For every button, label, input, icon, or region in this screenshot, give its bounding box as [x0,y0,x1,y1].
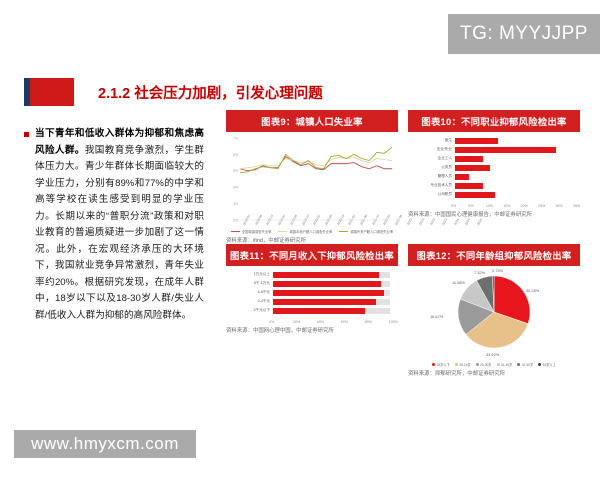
pie-chart-12: 30.28%33.92%16.67%11.08%7.32%0.73% [408,266,580,362]
x-tick-label: 15% [503,204,520,208]
page-title: 2.1.2 社会压力加剧，引发心理问题 [98,82,323,103]
x-tick-label: 0% [451,204,468,208]
chart-9-body: 7%6%5%4%3%2% 2018-022018-062018-102019-0… [226,132,398,244]
chart-10-body: 医生 无业/失业 企业工人 公务员 管理人员 专业技术人员 [408,132,580,218]
bar-row: 4-8千元 [230,290,390,296]
bar-row: 公务员 [412,165,572,171]
section-heading: 2.1.2 社会压力加剧，引发心理问题 [24,78,323,106]
bar-category-label: 2-4千元 [230,300,273,304]
bar-row: 1万元以上 [230,272,390,278]
slide-canvas: TG: MYYJJPP www.hmyxcm.com 2.1.2 社会压力加剧，… [0,0,600,480]
legend-label: 全国城镇调查失业率 [242,229,272,234]
x-tick-label: 20% [293,320,317,324]
chart-panel-12: 图表12：不同年龄组抑郁风险检出率 30.28%33.92%16.67%11.0… [408,244,580,377]
x-tick-label: 80% [365,320,389,324]
chart-9-x-axis: 2018-022018-062018-102019-022019-062019-… [226,224,398,228]
x-tick-label: 60% [341,320,365,324]
chart-12-body: 30.28%33.92%16.67%11.08%7.32%0.73% 18岁以下… [408,266,580,377]
bar-fill [273,272,379,278]
bar-track [273,281,390,287]
legend-item: 城镇外来户籍人口调查失业率 [339,229,393,234]
bullet-icon [24,132,29,137]
bar-fill [273,290,384,296]
svg-text:3%: 3% [233,202,238,206]
chart-10-title: 图表10：不同职业抑郁风险检出率 [408,110,580,132]
pie-value-label: 16.67% [430,314,443,319]
x-tick-label: 20% [521,204,538,208]
x-tick-label: 100% [389,320,398,324]
bar-row: 2-4千元 [230,299,390,305]
bar-fill [273,299,376,305]
bar-row: 公司职员 [412,192,572,198]
bar-fill [455,174,469,180]
body-paragraph: 当下青年和低收入群体为抑郁和焦虑高风险人群。我国教育竞争激烈，学生群体压力大。青… [35,126,204,324]
bar-fill [455,138,498,144]
bar-category-label: 公司职员 [412,193,455,197]
chart-panel-11: 图表11：不同月收入下抑郁风险检出率 1万元以上 8千-1万元 4-8千元 2-… [226,244,398,334]
line-chart-9-svg: 7%6%5%4%3%2% [226,132,398,224]
line-chart-9: 7%6%5%4%3%2% [226,132,398,224]
chart-11-x-axis: 0%20%40%60%80%100% [269,320,398,324]
bar-row: 无业/失业 [412,147,572,153]
bar-chart-10: 医生 无业/失业 企业工人 公务员 管理人员 专业技术人员 [408,132,580,203]
bar-fill [455,147,556,153]
bar-track [273,308,390,314]
legend-item: 全国城镇调查失业率 [231,229,272,234]
chart-9-title: 图表9：城镇人口失业率 [226,110,398,132]
chart-10-x-axis: 0%5%10%15%20%25%30%35% [451,204,580,208]
bar-track [455,174,572,180]
legend-swatch [278,231,287,233]
svg-text:2%: 2% [233,218,238,222]
bar-category-label: 4-8千元 [230,291,273,295]
pie-value-label: 0.73% [492,268,503,273]
legend-label: 城镇外来户籍人口调查失业率 [350,229,393,234]
chart-9-source: 资料来源：ifind，中邮证券研究所 [226,236,398,244]
chart-10-source: 资料来源：中国国民心理健康报告，中邮证券研究所 [408,210,580,218]
bar-track [455,138,572,144]
bar-fill [273,281,381,287]
chart-12-title: 图表12：不同年龄组抑郁风险检出率 [408,244,580,266]
x-tick-label: 40% [317,320,341,324]
body-text-column: 当下青年和低收入群体为抑郁和焦虑高风险人群。我国教育竞争激烈，学生群体压力大。青… [24,126,204,324]
chart-11-source: 资料来源：中国网心理中国，中邮证券研究所 [226,326,398,334]
bar-row: 8千-1万元 [230,281,390,287]
svg-text:4%: 4% [233,186,238,190]
bar-category-label: 企业工人 [412,157,455,161]
bar-track [273,290,390,296]
legend-label: 城镇本地户籍人口调查失业率 [289,229,332,234]
bar-category-label: 专业技术人员 [412,184,455,188]
bar-category-label: 医生 [412,139,455,143]
bar-track [455,156,572,162]
bar-chart-11: 1万元以上 8千-1万元 4-8千元 2-4千元 2千元以下 [226,266,398,319]
x-tick-label: 10% [486,204,503,208]
bar-row: 专业技术人员 [412,183,572,189]
bar-row: 管理人员 [412,174,572,180]
bar-fill [273,308,365,314]
x-tick-label: 25% [538,204,555,208]
bar-category-label: 管理人员 [412,175,455,179]
legend-swatch [231,231,240,233]
pie-value-label: 30.28% [526,288,539,293]
chart-11-body: 1万元以上 8千-1万元 4-8千元 2-4千元 2千元以下 0%20%40%6… [226,266,398,334]
bar-track [455,192,572,198]
pie-value-label: 7.32% [474,270,485,275]
bar-row: 医生 [412,138,572,144]
bar-category-label: 2千元以下 [230,309,273,313]
chart-12-source: 资料来源：抑郁研究所，中邮证券研究所 [408,369,580,377]
svg-text:6%: 6% [233,153,238,157]
bar-track [455,183,572,189]
chart-panel-9: 图表9：城镇人口失业率 7%6%5%4%3%2% 2018-022018-062… [226,110,398,244]
legend-item: 城镇本地户籍人口调查失业率 [278,229,332,234]
x-tick-label: 5% [468,204,485,208]
bar-fill [455,156,483,162]
bar-fill [455,165,490,171]
watermark-bottom: www.hmyxcm.com [14,430,196,458]
heading-red-block [30,78,74,106]
bar-track [455,147,572,153]
bar-fill [455,183,483,189]
x-tick-label: 30% [555,204,572,208]
chart-11-title: 图表11：不同月收入下抑郁风险检出率 [226,244,398,266]
bar-category-label: 1万元以上 [230,273,273,277]
svg-text:5%: 5% [233,169,238,173]
bar-category-label: 8千-1万元 [230,282,273,286]
x-tick-label: 35% [573,204,580,208]
bar-category-label: 无业/失业 [412,148,455,152]
svg-text:7%: 7% [233,136,238,140]
bar-row: 企业工人 [412,156,572,162]
body-rest: 我国教育竞争激烈，学生群体压力大。青少年群体长期面临较大的学业压力，分别有89%… [35,145,204,321]
bar-track [273,299,390,305]
watermark-top: TG: MYYJJPP [448,14,600,54]
bar-track [273,272,390,278]
bar-fill [455,192,495,198]
legend-swatch [339,231,348,233]
pie-value-label: 33.92% [486,352,499,357]
chart-panel-10: 图表10：不同职业抑郁风险检出率 医生 无业/失业 企业工人 公务员 管理人员 [408,110,580,218]
bar-track [455,165,572,171]
chart-9-legend: 全国城镇调查失业率 城镇本地户籍人口调查失业率 城镇外来户籍人口调查失业率 [226,229,398,234]
bar-row: 2千元以下 [230,308,390,314]
x-tick-label: 0% [269,320,293,324]
bar-category-label: 公务员 [412,166,455,170]
pie-value-label: 11.08% [452,280,465,285]
